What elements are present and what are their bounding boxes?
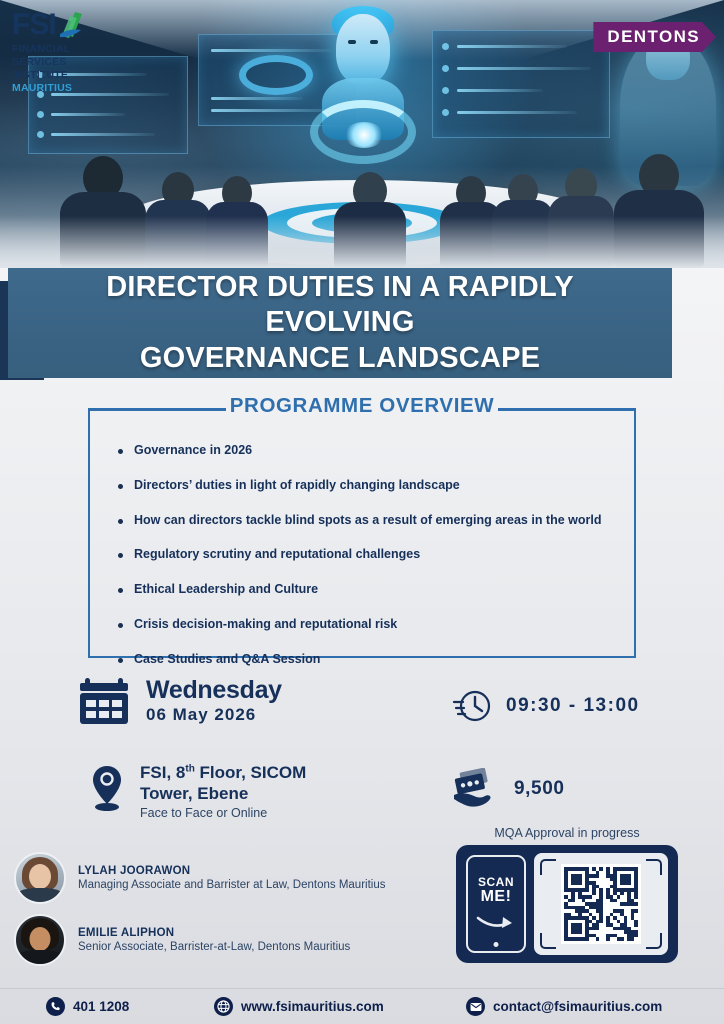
- programme-item: Regulatory scrutiny and reputational cha…: [118, 546, 618, 562]
- page-title: DIRECTOR DUTIES IN A RAPIDLY EVOLVING GO…: [30, 270, 650, 376]
- programme-item: Case Studies and Q&A Session: [118, 651, 618, 667]
- qr-registration-section[interactable]: MQA Approval in progress SCAN ME!: [456, 826, 678, 963]
- event-day-label: Wednesday: [146, 677, 282, 703]
- programme-item: Governance in 2026: [118, 442, 618, 458]
- scan-label-line1: SCAN: [478, 876, 514, 889]
- programme-item: Crisis decision-making and reputational …: [118, 616, 618, 632]
- ai-avatar-hologram: [316, 4, 410, 154]
- speaker-row: EMILIE ALIPHON Senior Associate, Barrist…: [14, 914, 424, 966]
- fsi-country-label: MAURITIUS: [12, 82, 72, 94]
- venue-ordinal-suffix: th: [185, 763, 194, 774]
- footer-website-label: www.fsimauritius.com: [241, 999, 384, 1014]
- bullet-icon: [118, 588, 123, 593]
- programme-item-label: Ethical Leadership and Culture: [134, 581, 318, 597]
- programme-item: Ethical Leadership and Culture: [118, 581, 618, 597]
- envelope-icon: [466, 997, 485, 1016]
- event-poster: FSI FINANCIAL SERVICES INSTITUTE MAURITI…: [0, 0, 724, 1024]
- event-fee-block: 9,500: [452, 768, 565, 810]
- programme-item-label: Governance in 2026: [134, 442, 252, 458]
- footer-phone-label: 401 1208: [73, 999, 129, 1014]
- event-date-block: Wednesday 06 May 2026: [78, 676, 282, 726]
- clock-icon: [452, 688, 492, 724]
- speakers-section: LYLAH JOORAWON Managing Associate and Ba…: [14, 852, 424, 976]
- venue-line2: Tower, Ebene: [140, 783, 306, 804]
- fsi-institute-label: INSTITUTE: [12, 69, 68, 81]
- footer-contact-bar: 401 1208 www.fsimauritius.com contact@fs…: [0, 988, 724, 1024]
- scan-label-line2: ME!: [481, 889, 512, 906]
- programme-item-label: Crisis decision-making and reputational …: [134, 616, 397, 632]
- event-time-block: 09:30 - 13:00: [452, 688, 640, 724]
- dentons-label: DENTONS: [607, 27, 700, 47]
- event-location-block: FSI, 8th Floor, SICOM Tower, Ebene Face …: [90, 762, 306, 820]
- phone-icon: [46, 997, 65, 1016]
- fsi-acronym: FSI: [12, 10, 56, 40]
- venue-suffix: Floor, SICOM: [195, 763, 306, 782]
- curved-arrow-icon: [475, 912, 517, 932]
- programme-item: How can directors tackle blind spots as …: [118, 512, 618, 528]
- location-pin-icon: [90, 764, 124, 812]
- mqa-approval-note: MQA Approval in progress: [456, 826, 678, 840]
- event-fee-label: 9,500: [514, 778, 565, 800]
- speaker-name: LYLAH JOORAWON: [78, 865, 385, 877]
- fsi-logo: FSI FINANCIAL SERVICES INSTITUTE MAURITI…: [12, 10, 124, 94]
- bullet-icon: [118, 658, 123, 663]
- footer-phone[interactable]: 401 1208: [46, 997, 129, 1016]
- calendar-icon: [78, 676, 130, 726]
- footer-email-label: contact@fsimauritius.com: [493, 999, 662, 1014]
- bullet-icon: [118, 553, 123, 558]
- speaker-name: EMILIE ALIPHON: [78, 927, 350, 939]
- bullet-icon: [118, 519, 123, 524]
- dentons-logo: DENTONS: [593, 22, 716, 52]
- bullet-icon: [118, 623, 123, 628]
- qr-card[interactable]: SCAN ME!: [456, 845, 678, 963]
- event-title-line2: GOVERNANCE LANDSCAPE: [30, 341, 650, 376]
- programme-item-label: How can directors tackle blind spots as …: [134, 512, 602, 528]
- fsi-name-line1: FINANCIAL SERVICES: [12, 43, 124, 69]
- programme-item-label: Case Studies and Q&A Session: [134, 651, 320, 667]
- programme-item-label: Directors’ duties in light of rapidly ch…: [134, 477, 460, 493]
- holo-screen-right: [432, 30, 610, 138]
- programme-overview-section: PROGRAMME OVERVIEW Governance in 2026 Di…: [88, 408, 636, 658]
- bullet-icon: [118, 484, 123, 489]
- venue-line1: FSI, 8th Floor, SICOM: [140, 762, 306, 783]
- speaker-title: Senior Associate, Barrister-at-Law, Dent…: [78, 941, 350, 953]
- speaker-row: LYLAH JOORAWON Managing Associate and Ba…: [14, 852, 424, 904]
- event-time-label: 09:30 - 13:00: [506, 695, 640, 717]
- programme-item: Directors’ duties in light of rapidly ch…: [118, 477, 618, 493]
- event-title-bar: DIRECTOR DUTIES IN A RAPIDLY EVOLVING GO…: [8, 268, 672, 378]
- event-date-label: 06 May 2026: [146, 705, 282, 725]
- hero-bottom-fade: [0, 216, 724, 268]
- footer-email[interactable]: contact@fsimauritius.com: [466, 997, 662, 1016]
- hand-money-icon: [452, 768, 498, 810]
- fsi-name-line2: INSTITUTE MAURITIUS: [12, 69, 124, 94]
- event-title-line1: DIRECTOR DUTIES IN A RAPIDLY EVOLVING: [30, 270, 650, 341]
- qr-code-icon[interactable]: [561, 864, 641, 944]
- programme-item-label: Regulatory scrutiny and reputational cha…: [134, 546, 420, 562]
- speaker-avatar: [14, 852, 66, 904]
- programme-items-list: Governance in 2026 Directors’ duties in …: [118, 442, 618, 685]
- qr-scan-frame: [534, 853, 668, 955]
- bullet-icon: [118, 449, 123, 454]
- globe-icon: [214, 997, 233, 1016]
- footer-website[interactable]: www.fsimauritius.com: [214, 997, 384, 1016]
- scan-me-phone-graphic: SCAN ME!: [466, 855, 526, 953]
- speaker-avatar: [14, 914, 66, 966]
- venue-mode-label: Face to Face or Online: [140, 806, 306, 820]
- venue-prefix: FSI, 8: [140, 763, 185, 782]
- fsi-logo-mark-icon: [57, 10, 83, 40]
- programme-heading: PROGRAMME OVERVIEW: [216, 394, 508, 418]
- speaker-title: Managing Associate and Barrister at Law,…: [78, 879, 385, 891]
